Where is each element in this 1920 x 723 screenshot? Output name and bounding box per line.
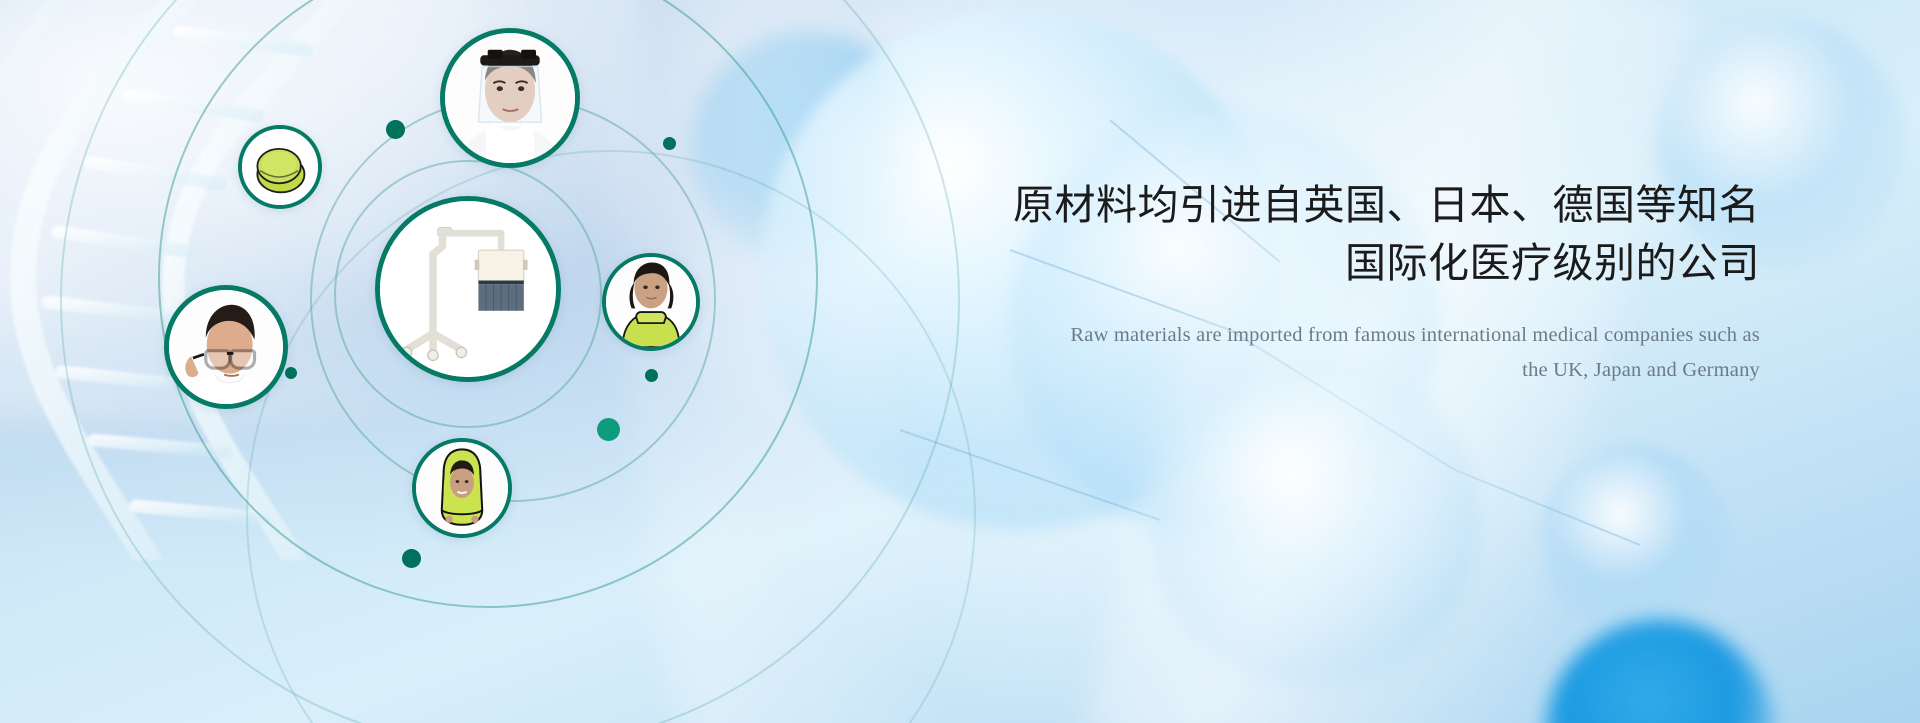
orbit-dot-top bbox=[386, 120, 405, 139]
orbit-dot-left bbox=[285, 367, 297, 379]
man-lead-glasses-photo bbox=[169, 290, 283, 404]
hero-banner: 原材料均引进自英国、日本、德国等知名 国际化医疗级别的公司 Raw materi… bbox=[0, 0, 1920, 723]
orbit-dot-right-mid bbox=[645, 369, 658, 382]
subtitle-line-2: the UK, Japan and Germany bbox=[980, 353, 1760, 388]
mobile-lead-shield-photo bbox=[380, 201, 556, 377]
orbit-dot-bottom bbox=[402, 549, 421, 568]
headline-line-2: 国际化医疗级别的公司 bbox=[980, 234, 1760, 292]
banner-headline: 原材料均引进自英国、日本、德国等知名 国际化医疗级别的公司 bbox=[980, 176, 1760, 292]
headline-line-1: 原材料均引进自英国、日本、德国等知名 bbox=[1013, 181, 1760, 229]
banner-subtitle: Raw materials are imported from famous i… bbox=[980, 318, 1760, 388]
node-mobile-lead-screen[interactable] bbox=[375, 196, 561, 382]
subtitle-line-1: Raw materials are imported from famous i… bbox=[1070, 324, 1760, 346]
node-lead-glasses-man[interactable] bbox=[164, 285, 288, 409]
woman-protection-hood-photo bbox=[416, 442, 508, 534]
banner-text-block: 原材料均引进自英国、日本、德国等知名 国际化医疗级别的公司 Raw materi… bbox=[980, 176, 1760, 388]
node-protection-hood[interactable] bbox=[412, 438, 512, 538]
node-face-shield-man[interactable] bbox=[440, 28, 580, 168]
orbit-dot-node-right bbox=[663, 137, 676, 150]
orbit-dot-center-large bbox=[597, 418, 620, 441]
node-lead-cap[interactable] bbox=[238, 125, 322, 209]
woman-thyroid-collar-photo bbox=[606, 257, 696, 347]
green-radiation-cap-photo bbox=[242, 129, 318, 205]
node-thyroid-collar[interactable] bbox=[602, 253, 700, 351]
man-face-shield-photo bbox=[445, 33, 575, 163]
